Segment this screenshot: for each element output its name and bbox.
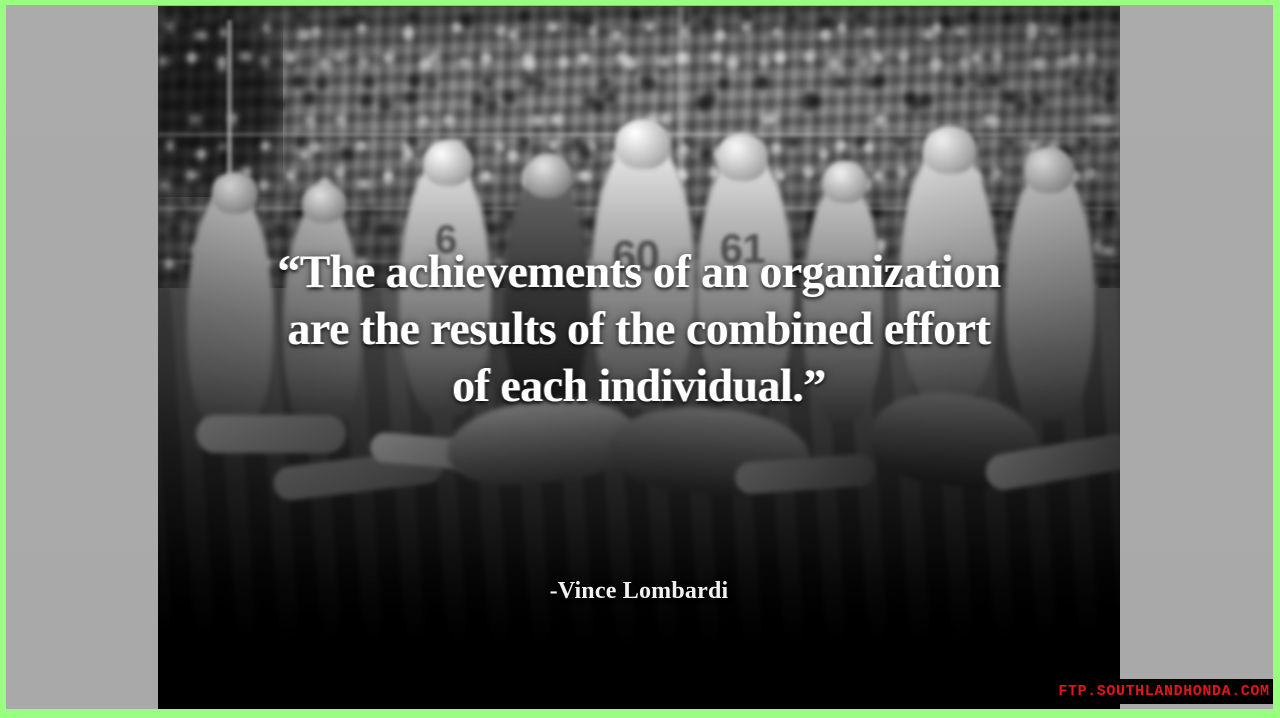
quote-line-1: “The achievements of an organization bbox=[186, 244, 1092, 301]
quote-attribution: -Vince Lombardi bbox=[158, 578, 1120, 605]
watermark-banner: FTP.SOUTHLANDHONDA.COM bbox=[1055, 679, 1273, 704]
quote-image-page: 6 60 61 bbox=[0, 0, 1280, 718]
watermark-url-text: FTP.SOUTHLANDHONDA.COM bbox=[1058, 683, 1269, 700]
quote-line-3: of each individual.” bbox=[186, 358, 1092, 415]
quote-line-2: are the results of the combined effort bbox=[186, 301, 1092, 358]
quote-text-block: “The achievements of an organization are… bbox=[158, 244, 1120, 415]
football-photograph: 6 60 61 bbox=[158, 6, 1120, 712]
